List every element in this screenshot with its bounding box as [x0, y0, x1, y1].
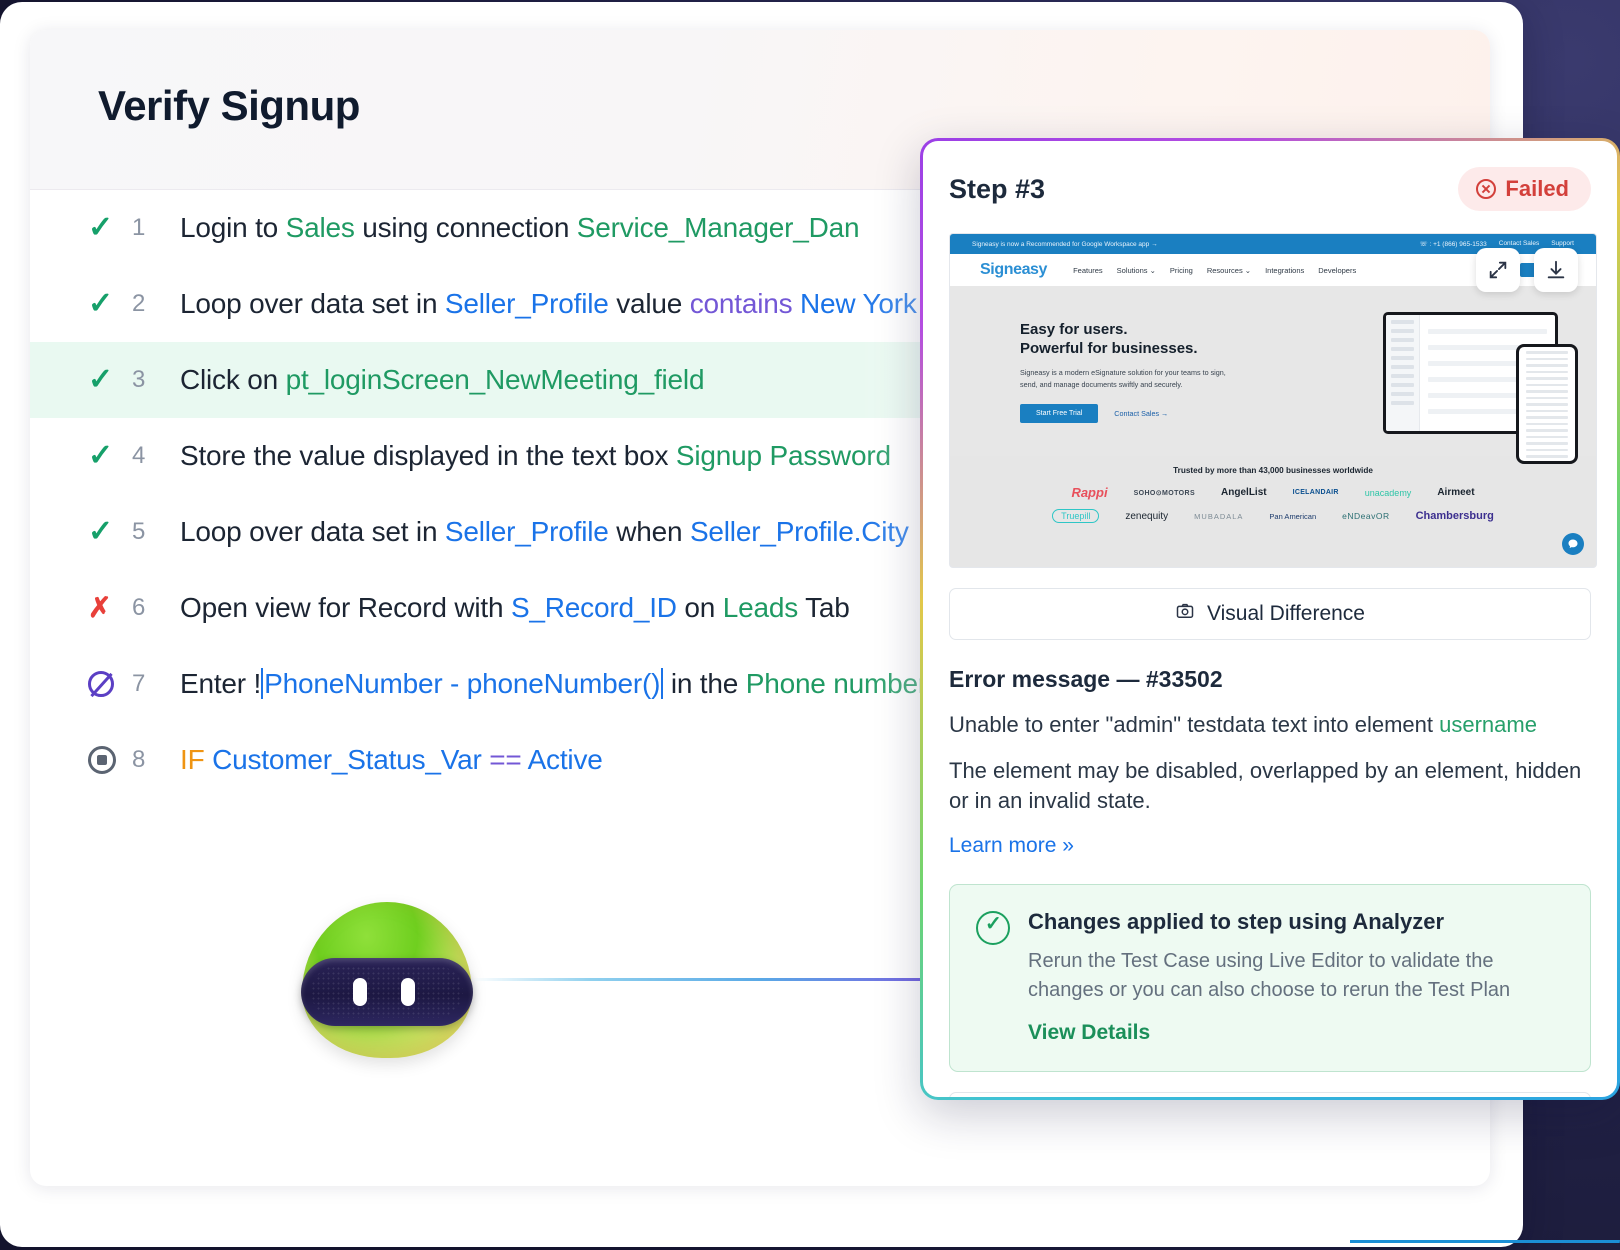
assistant-mascot [302, 902, 472, 1058]
preview-nav-features: Features [1073, 266, 1103, 275]
camera-icon [1175, 601, 1195, 627]
step-text-part: == [489, 744, 521, 775]
step-text-part: Seller_Profile [445, 288, 609, 319]
step-text-part: Phone number [746, 668, 927, 699]
status-badge: Failed [1458, 167, 1591, 211]
preview-hero: Easy for users. Powerful for businesses.… [950, 286, 1596, 456]
view-details-link[interactable]: View Details [1028, 1021, 1564, 1045]
window-accent-sliver [1350, 1240, 1620, 1250]
step-text-part: ! [254, 668, 262, 699]
step-text-part: in the [663, 668, 745, 699]
logo-unacademy: unacademy [1365, 488, 1412, 498]
preview-contact-sales-link: Contact Sales [1499, 240, 1539, 248]
step-status [88, 671, 132, 697]
step-text-part: New York [792, 288, 916, 319]
step-text-part: Active [522, 744, 603, 775]
page-title: Verify Signup [98, 82, 360, 130]
analyzer-content: Changes applied to step using Analyzer R… [1028, 909, 1564, 1045]
step-text-part: Service_Manager_Dan [577, 212, 860, 243]
step-detail-header: Step #3 Failed [949, 167, 1591, 211]
step-status: ✓ [88, 213, 132, 243]
visual-difference-label: Visual Difference [1207, 602, 1365, 626]
step-text-part: Loop over data set in [180, 516, 445, 547]
logo-pan-american: Pan American [1269, 512, 1316, 521]
logo-soho-motors: SOHO⊙MOTORS [1134, 489, 1195, 497]
check-icon: ✓ [88, 517, 113, 547]
step-text-part: Signup Password [676, 440, 891, 471]
step-detail-inner: Step #3 Failed Signeasy is now a Recomme… [923, 141, 1617, 1097]
step-number: 6 [132, 594, 180, 622]
chat-bubble-icon[interactable] [1562, 533, 1584, 555]
mascot-visor [301, 958, 473, 1026]
step-number: 1 [132, 214, 180, 242]
step-text-part: on [677, 592, 723, 623]
step-number: 8 [132, 746, 180, 774]
step-screenshot-preview[interactable]: Signeasy is now a Recommended for Google… [949, 233, 1597, 568]
logo-endeavor: eNDeavOR [1342, 511, 1389, 521]
step-description: Open view for Record with S_Record_ID on… [180, 592, 850, 624]
step-text-part: value [609, 288, 690, 319]
preview-contact-sales-button: Contact Sales → [1114, 409, 1168, 418]
error-line-1: Unable to enter "admin" testdata text in… [949, 710, 1591, 739]
preview-phone: ☏ : +1 (866) 965-1533 [1420, 240, 1487, 248]
error-line-2: The element may be disabled, overlapped … [949, 756, 1591, 815]
step-description: IF Customer_Status_Var == Active [180, 744, 603, 776]
step-detail-panel: Step #3 Failed Signeasy is now a Recomme… [920, 138, 1620, 1100]
run-using-live-editor-button[interactable]: Run using Live Editor [949, 1092, 1591, 1097]
analyzer-title: Changes applied to step using Analyzer [1028, 909, 1564, 935]
step-status: ✓ [88, 517, 132, 547]
check-icon: ✓ [88, 441, 113, 471]
preview-nav-integrations: Integrations [1265, 266, 1304, 275]
step-text-part: when [609, 516, 690, 547]
preview-nav-pricing: Pricing [1170, 266, 1193, 275]
step-status: ✓ [88, 289, 132, 319]
logo-rappi: Rappi [1071, 485, 1107, 500]
step-number-label: Step #3 [949, 174, 1045, 205]
preview-start-trial-button: Start Free Trial [1020, 404, 1098, 423]
step-text-part: Store the value displayed in the text bo… [180, 440, 676, 471]
download-icon[interactable] [1534, 248, 1578, 292]
analyzer-body: Rerun the Test Case using Live Editor to… [1028, 947, 1564, 1005]
step-description: Enter !PhoneNumber - phoneNumber() in th… [180, 668, 927, 700]
screenshot-stage: Verify Signup ✓1Login to Sales using con… [0, 0, 1620, 1250]
check-icon: ✓ [88, 365, 113, 395]
step-text-part: PhoneNumber - phoneNumber() [261, 668, 663, 699]
logo-chambersburg: Chambersburg [1416, 510, 1494, 522]
step-text-part: Open view for Record with [180, 592, 511, 623]
step-status: ✓ [88, 365, 132, 395]
error-title: Error message — #33502 [949, 666, 1591, 693]
status-badge-label: Failed [1505, 176, 1569, 202]
step-text-part: Login to [180, 212, 286, 243]
logo-airmeet: Airmeet [1437, 487, 1474, 498]
error-line-1-prefix: Unable to enter "admin" testdata text in… [949, 712, 1439, 737]
step-text-part: Leads [723, 592, 798, 623]
step-text-part: Seller_Profile [445, 516, 609, 547]
step-text-part: IF [180, 744, 204, 775]
visual-difference-button[interactable]: Visual Difference [949, 588, 1591, 640]
step-text-part: Enter [180, 668, 254, 699]
preview-brand-logo: Signeasy [980, 261, 1047, 279]
x-circle-icon [1476, 179, 1496, 199]
step-status: ✓ [88, 441, 132, 471]
mascot-eye-right [401, 978, 415, 1006]
check-icon: ✓ [88, 213, 113, 243]
step-description: Loop over data set in Seller_Profile whe… [180, 516, 909, 548]
logo-truepill: Truepill [1052, 509, 1099, 523]
step-description: Store the value displayed in the text bo… [180, 440, 891, 472]
logo-angellist: AngelList [1221, 487, 1267, 498]
logo-mubadala: MUBADALA [1194, 512, 1243, 521]
preview-nav-resources: Resources ⌄ [1207, 266, 1251, 275]
preview-announcement-text: Signeasy is now a Recommended for Google… [972, 241, 1158, 248]
preview-trusted-label: Trusted by more than 43,000 businesses w… [950, 456, 1596, 475]
preview-subtext: Signeasy is a modern eSignature solution… [1020, 367, 1235, 389]
step-text-part: Tab [798, 592, 850, 623]
circle-slash-icon [88, 671, 114, 697]
preview-laptop-sidebar [1386, 315, 1420, 431]
step-number: 3 [132, 366, 180, 394]
logo-icelandair: ICELANDAIR [1293, 489, 1339, 496]
step-description: Loop over data set in Seller_Profile val… [180, 288, 917, 320]
step-description: Click on pt_loginScreen_NewMeeting_field [180, 364, 704, 396]
step-text-part: contains [690, 288, 793, 319]
preview-laptop-row [1428, 329, 1547, 334]
step-status [88, 746, 132, 774]
check-circle-icon [976, 911, 1010, 945]
step-number: 7 [132, 670, 180, 698]
step-text-part: using connection [355, 212, 577, 243]
step-text-part: Loop over data set in [180, 288, 445, 319]
check-icon: ✓ [88, 289, 113, 319]
error-element-name: username [1439, 712, 1537, 737]
preview-support-link: Support [1551, 240, 1574, 248]
step-text-part: Sales [286, 212, 355, 243]
logo-zenequity: zenequity [1125, 511, 1168, 522]
stop-record-icon [88, 746, 116, 774]
step-status: ✗ [88, 594, 132, 622]
learn-more-link[interactable]: Learn more » [949, 834, 1591, 858]
preview-topbar-right: ☏ : +1 (866) 965-1533 Contact Sales Supp… [1420, 240, 1574, 248]
preview-logos-row-1: Rappi SOHO⊙MOTORS AngelList ICELANDAIR u… [950, 485, 1596, 500]
mascot-eye-left [353, 978, 367, 1006]
expand-arrows-icon[interactable] [1476, 248, 1520, 292]
step-number: 5 [132, 518, 180, 546]
preview-phone-mock [1516, 344, 1578, 464]
step-text-part: pt_loginScreen_NewMeeting_field [286, 364, 705, 395]
step-text-part: Click on [180, 364, 286, 395]
step-number: 2 [132, 290, 180, 318]
step-text-part: Seller_Profile.City [690, 516, 909, 547]
step-text-part: S_Record_ID [511, 592, 677, 623]
step-number: 4 [132, 442, 180, 470]
preview-nav-solutions: Solutions ⌄ [1117, 266, 1156, 275]
preview-logos-row-2: Truepill zenequity MUBADALA Pan American… [950, 509, 1596, 523]
step-description: Login to Sales using connection Service_… [180, 212, 859, 244]
preview-nav-developers: Developers [1318, 266, 1356, 275]
connector-line [472, 978, 952, 981]
analyzer-card: Changes applied to step using Analyzer R… [949, 884, 1591, 1072]
cross-icon: ✗ [88, 594, 111, 622]
step-text-part: Customer_Status_Var [204, 744, 489, 775]
